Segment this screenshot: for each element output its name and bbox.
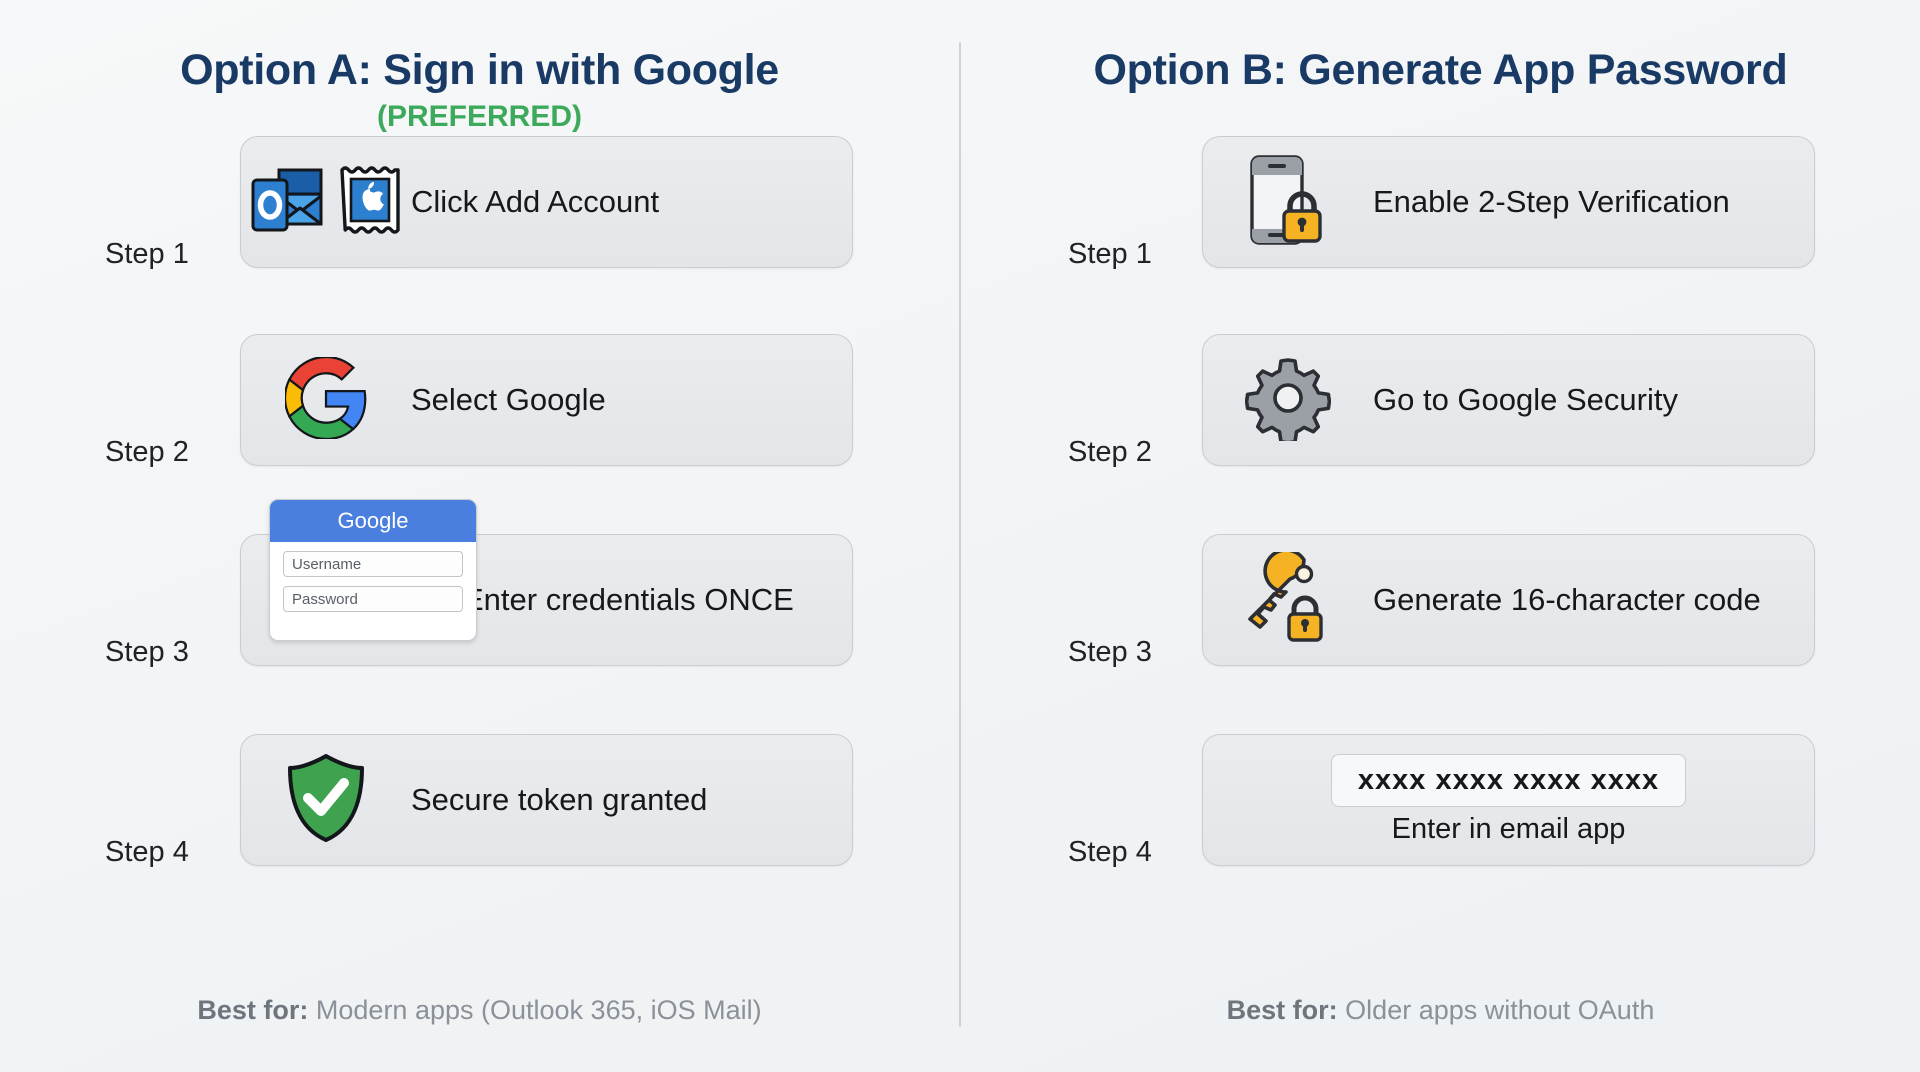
option-b-step-3-icons xyxy=(1203,535,1373,665)
option-b-step-4-label: Step 4 xyxy=(1068,836,1152,869)
option-b-footer: Best for: Older apps without OAuth xyxy=(961,995,1920,1026)
phone-lock-icon xyxy=(1242,151,1334,254)
option-b-column: Option B: Generate App Password Step 1 xyxy=(0,0,1920,1072)
key-lock-icon xyxy=(1238,552,1338,649)
diagram-canvas: Option A: Sign in with Google (PREFERRED… xyxy=(0,0,1920,1072)
option-b-footer-prefix: Best for: xyxy=(1227,995,1346,1025)
option-b-step-3-label: Step 3 xyxy=(1068,636,1152,669)
option-b-step-3-text: Generate 16-character code xyxy=(1373,582,1761,618)
option-b-step-1-icons xyxy=(1203,137,1373,267)
option-b-step-1-box[interactable]: Enable 2-Step Verification xyxy=(1202,136,1815,268)
gear-icon xyxy=(1245,355,1331,446)
app-password-code[interactable]: xxxx xxxx xxxx xxxx xyxy=(1331,754,1686,807)
option-b-step-2-label: Step 2 xyxy=(1068,436,1152,469)
option-b-step-1-text: Enable 2-Step Verification xyxy=(1373,184,1730,220)
option-b-step-3-box[interactable]: Generate 16-character code xyxy=(1202,534,1815,666)
app-password-caption: Enter in email app xyxy=(1392,813,1626,846)
option-b-step-1-label: Step 1 xyxy=(1068,238,1152,271)
option-b-footer-text: Older apps without OAuth xyxy=(1345,995,1654,1025)
app-password-code-group: xxxx xxxx xxxx xxxx Enter in email app xyxy=(1203,735,1814,865)
option-b-step-2-icons xyxy=(1203,335,1373,465)
option-b-step-4-box[interactable]: xxxx xxxx xxxx xxxx Enter in email app xyxy=(1202,734,1815,866)
option-b-step-2-box[interactable]: Go to Google Security xyxy=(1202,334,1815,466)
option-b-title: Option B: Generate App Password xyxy=(961,46,1920,95)
option-b-step-2-text: Go to Google Security xyxy=(1373,382,1678,418)
